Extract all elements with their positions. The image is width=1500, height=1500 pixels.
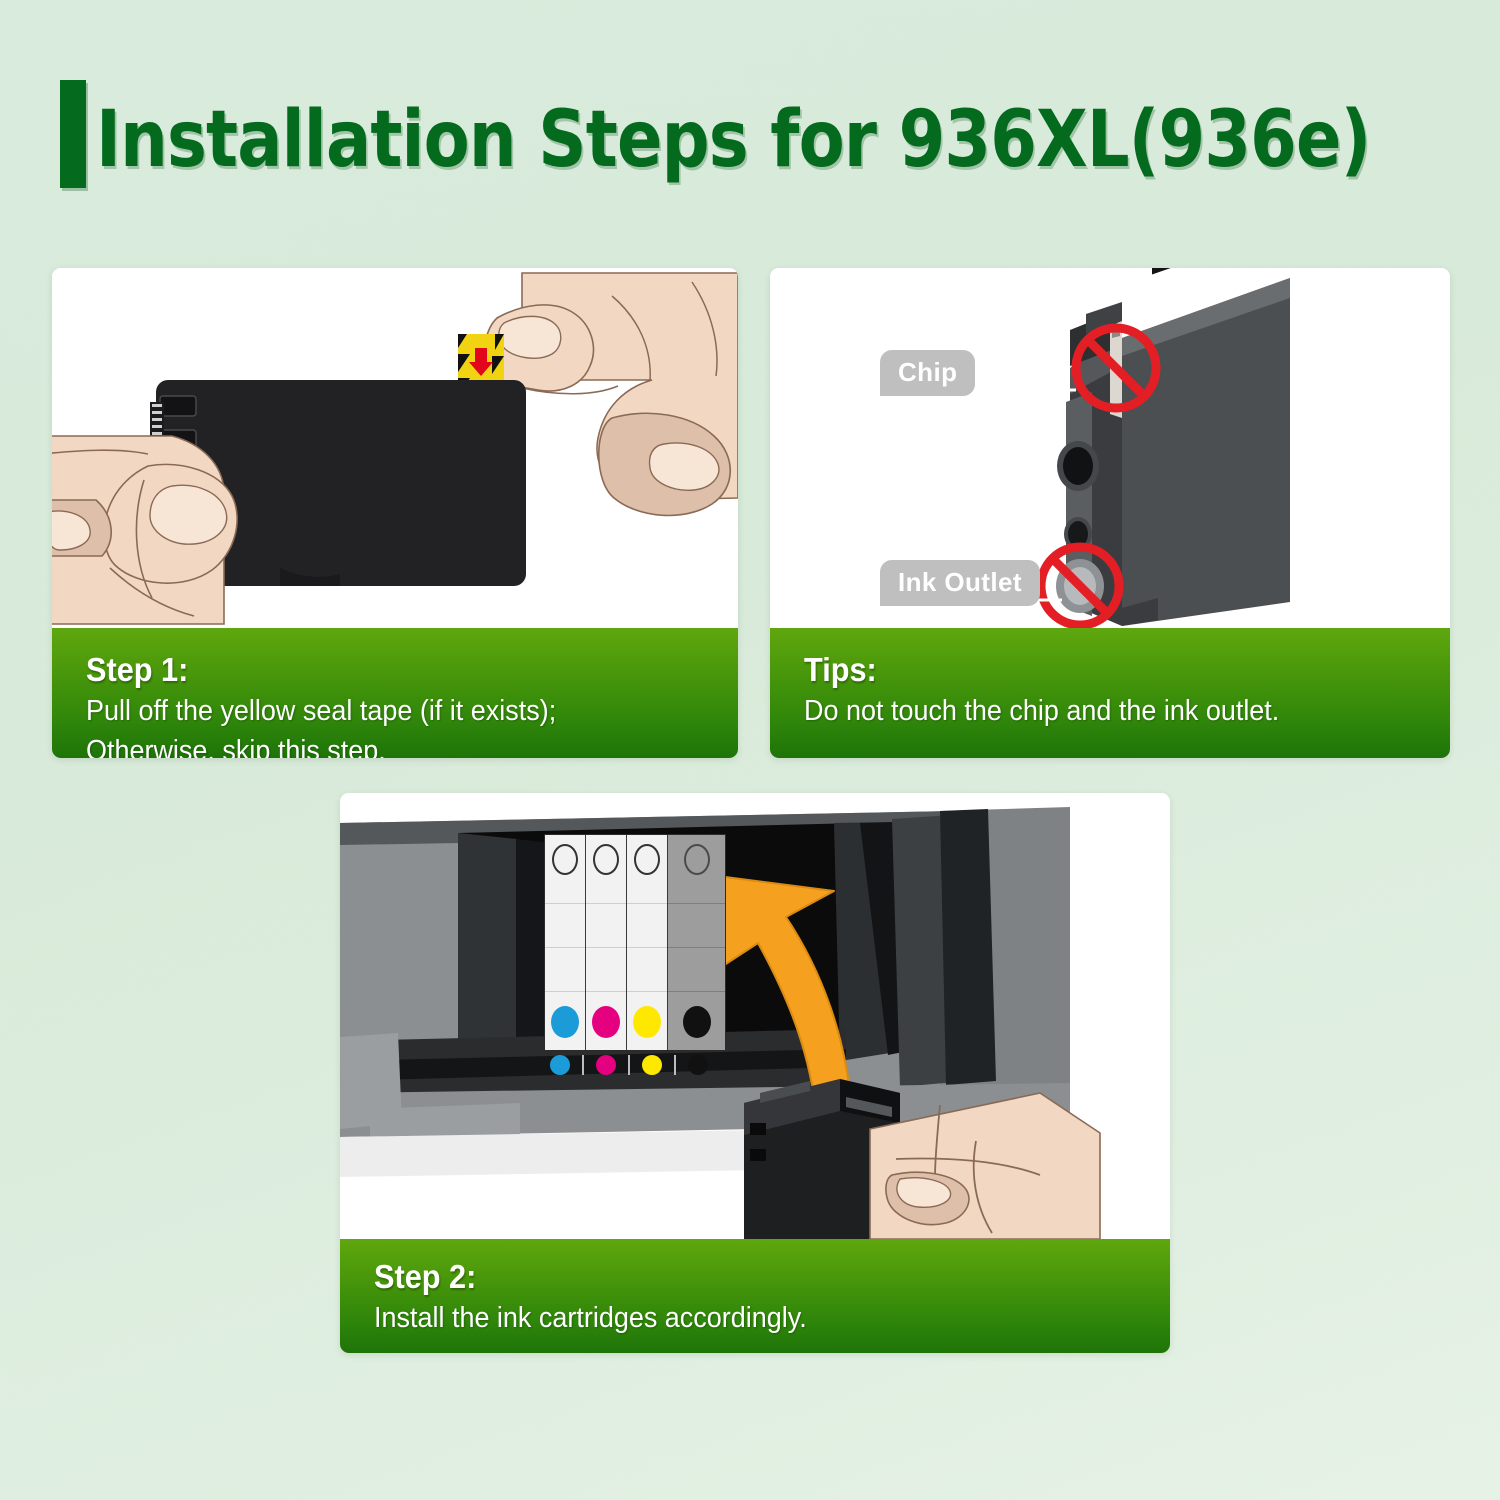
caption-line-1: Pull off the yellow seal tape (if it exi… xyxy=(86,693,666,730)
printer-carriage-illustration xyxy=(340,793,1170,1239)
illustration-step-1: PULL xyxy=(52,268,738,628)
caption-heading: Step 2: xyxy=(374,1257,1088,1297)
caption-tips: Tips: Do not touch the chip and the ink … xyxy=(770,628,1450,758)
card-tips: Chip Ink Outlet Tips: Do not touch the c… xyxy=(770,268,1450,758)
hand-pulling-seal-tape-illustration: PULL xyxy=(52,268,738,628)
slot-yellow[interactable] xyxy=(627,835,668,1050)
slot-ring-icon xyxy=(634,844,660,875)
chip-label: Chip xyxy=(880,350,975,396)
yellow-indicator xyxy=(633,1006,661,1038)
slot-magenta[interactable] xyxy=(586,835,627,1050)
cartridge-slot-grid xyxy=(544,834,726,1051)
ink-outlet-label: Ink Outlet xyxy=(880,560,1040,606)
caption-step-1: Step 1: Pull off the yellow seal tape (i… xyxy=(52,628,738,758)
slot-ring-icon xyxy=(684,844,710,875)
left-hand xyxy=(52,436,237,624)
slot-cyan[interactable] xyxy=(545,835,586,1050)
slot-ring-icon xyxy=(593,844,619,875)
legend-dot-magenta xyxy=(596,1055,616,1075)
page-title-text: Installation Steps for 936XL(936e) xyxy=(96,92,1370,188)
legend-dot-black xyxy=(688,1055,708,1075)
caption-step-2: Step 2: Install the ink cartridges accor… xyxy=(340,1239,1170,1353)
black-indicator xyxy=(683,1006,711,1038)
title-accent-bar xyxy=(60,80,86,188)
slot-black[interactable] xyxy=(668,835,725,1050)
caption-line-1: Do not touch the chip and the ink outlet… xyxy=(804,693,1379,730)
card-step-2: Step 2: Install the ink cartridges accor… xyxy=(340,793,1170,1353)
legend-dot-yellow xyxy=(642,1055,662,1075)
page-title: Installation Steps for 936XL(936e) xyxy=(60,78,1500,188)
cyan-indicator xyxy=(551,1006,579,1038)
illustration-step-2 xyxy=(340,793,1170,1239)
infographic-stage: Installation Steps for 936XL(936e) xyxy=(0,0,1500,1500)
illustration-tips: Chip Ink Outlet xyxy=(770,268,1450,628)
caption-heading: Step 1: xyxy=(86,650,666,690)
caption-line-2: Otherwise, skip this step. xyxy=(86,733,666,758)
card-step-1: PULL xyxy=(52,268,738,758)
slot-ring-icon xyxy=(552,844,578,875)
legend-dot-cyan xyxy=(550,1055,570,1075)
slot-color-legend xyxy=(550,1055,708,1075)
magenta-indicator xyxy=(592,1006,620,1038)
cartridge-chip-ink-outlet-illustration xyxy=(770,268,1450,628)
ink-cartridge-3d xyxy=(1056,268,1290,626)
caption-line-1: Install the ink cartridges accordingly. xyxy=(374,1300,1088,1337)
caption-heading: Tips: xyxy=(804,650,1379,690)
